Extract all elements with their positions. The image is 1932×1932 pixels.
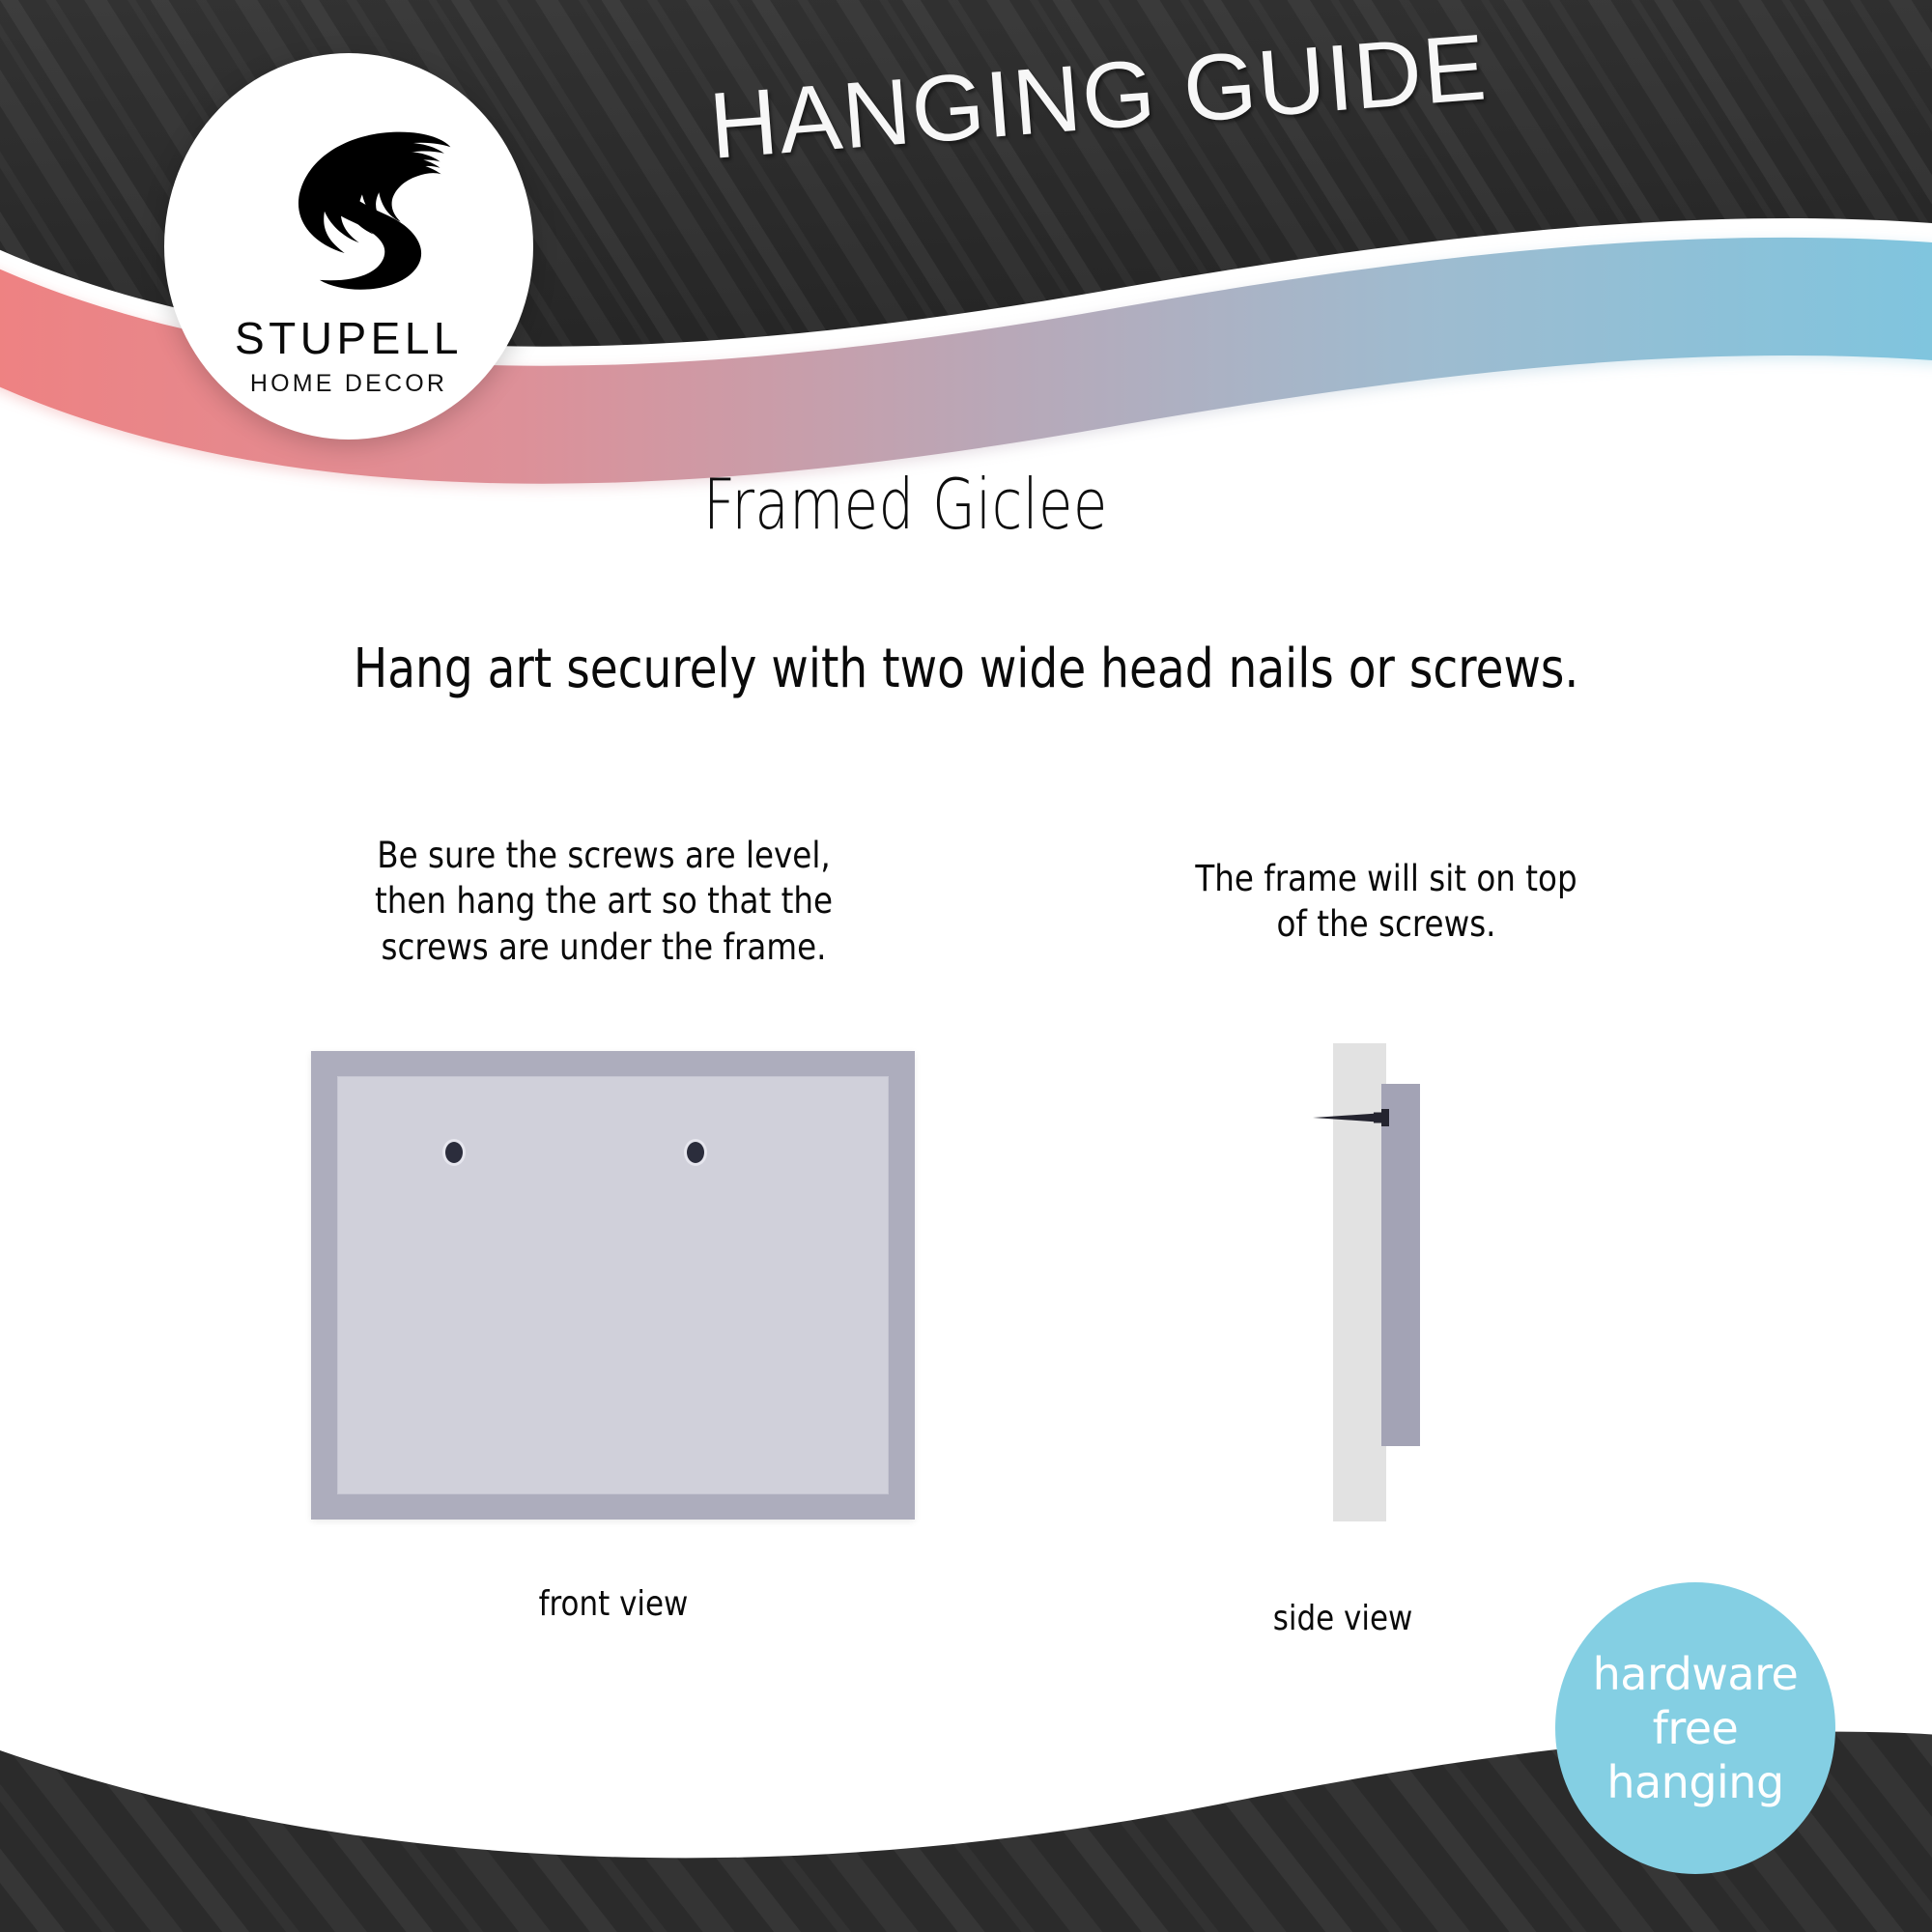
front-view-diagram bbox=[311, 1051, 915, 1520]
frame-cross-section bbox=[1381, 1084, 1420, 1446]
badge-line-3: hanging bbox=[1606, 1756, 1783, 1808]
front-view-caption-line-3: screws are under the frame. bbox=[327, 924, 880, 970]
screw-marker-left bbox=[445, 1142, 463, 1163]
brand-tagline: HOME DECOR bbox=[164, 372, 533, 396]
badge-line-1: hardware bbox=[1593, 1648, 1799, 1700]
front-view-label: front view bbox=[311, 1584, 915, 1624]
front-view-caption-line-2: then hang the art so that the bbox=[327, 878, 880, 923]
side-view-caption-line-2: of the screws. bbox=[1149, 901, 1625, 947]
brand-name: STUPELL bbox=[164, 316, 533, 360]
screw-marker-right bbox=[687, 1142, 704, 1163]
brand-logo-badge: STUPELL HOME DECOR bbox=[164, 53, 533, 440]
front-view-caption-line-1: Be sure the screws are level, bbox=[327, 833, 880, 878]
side-view-caption: The frame will sit on top of the screws. bbox=[1116, 856, 1657, 948]
instruction-headline-text: Hang art securely with two wide head nai… bbox=[354, 638, 1579, 700]
nail-icon bbox=[1310, 1109, 1406, 1126]
frame-mat bbox=[337, 1076, 889, 1494]
stupell-swan-s-icon bbox=[245, 101, 453, 309]
hardware-free-badge: hardware free hanging bbox=[1555, 1582, 1835, 1874]
badge-line-2: free bbox=[1653, 1702, 1739, 1754]
side-view-label: side view bbox=[1207, 1599, 1478, 1638]
front-view-caption: Be sure the screws are level, then hang … bbox=[290, 833, 918, 970]
side-view-diagram bbox=[1333, 1043, 1507, 1521]
product-name: Framed Giclee bbox=[703, 464, 1108, 545]
side-view-caption-line-1: The frame will sit on top bbox=[1149, 856, 1625, 901]
instruction-headline: Hang art securely with two wide head nai… bbox=[0, 638, 1932, 700]
